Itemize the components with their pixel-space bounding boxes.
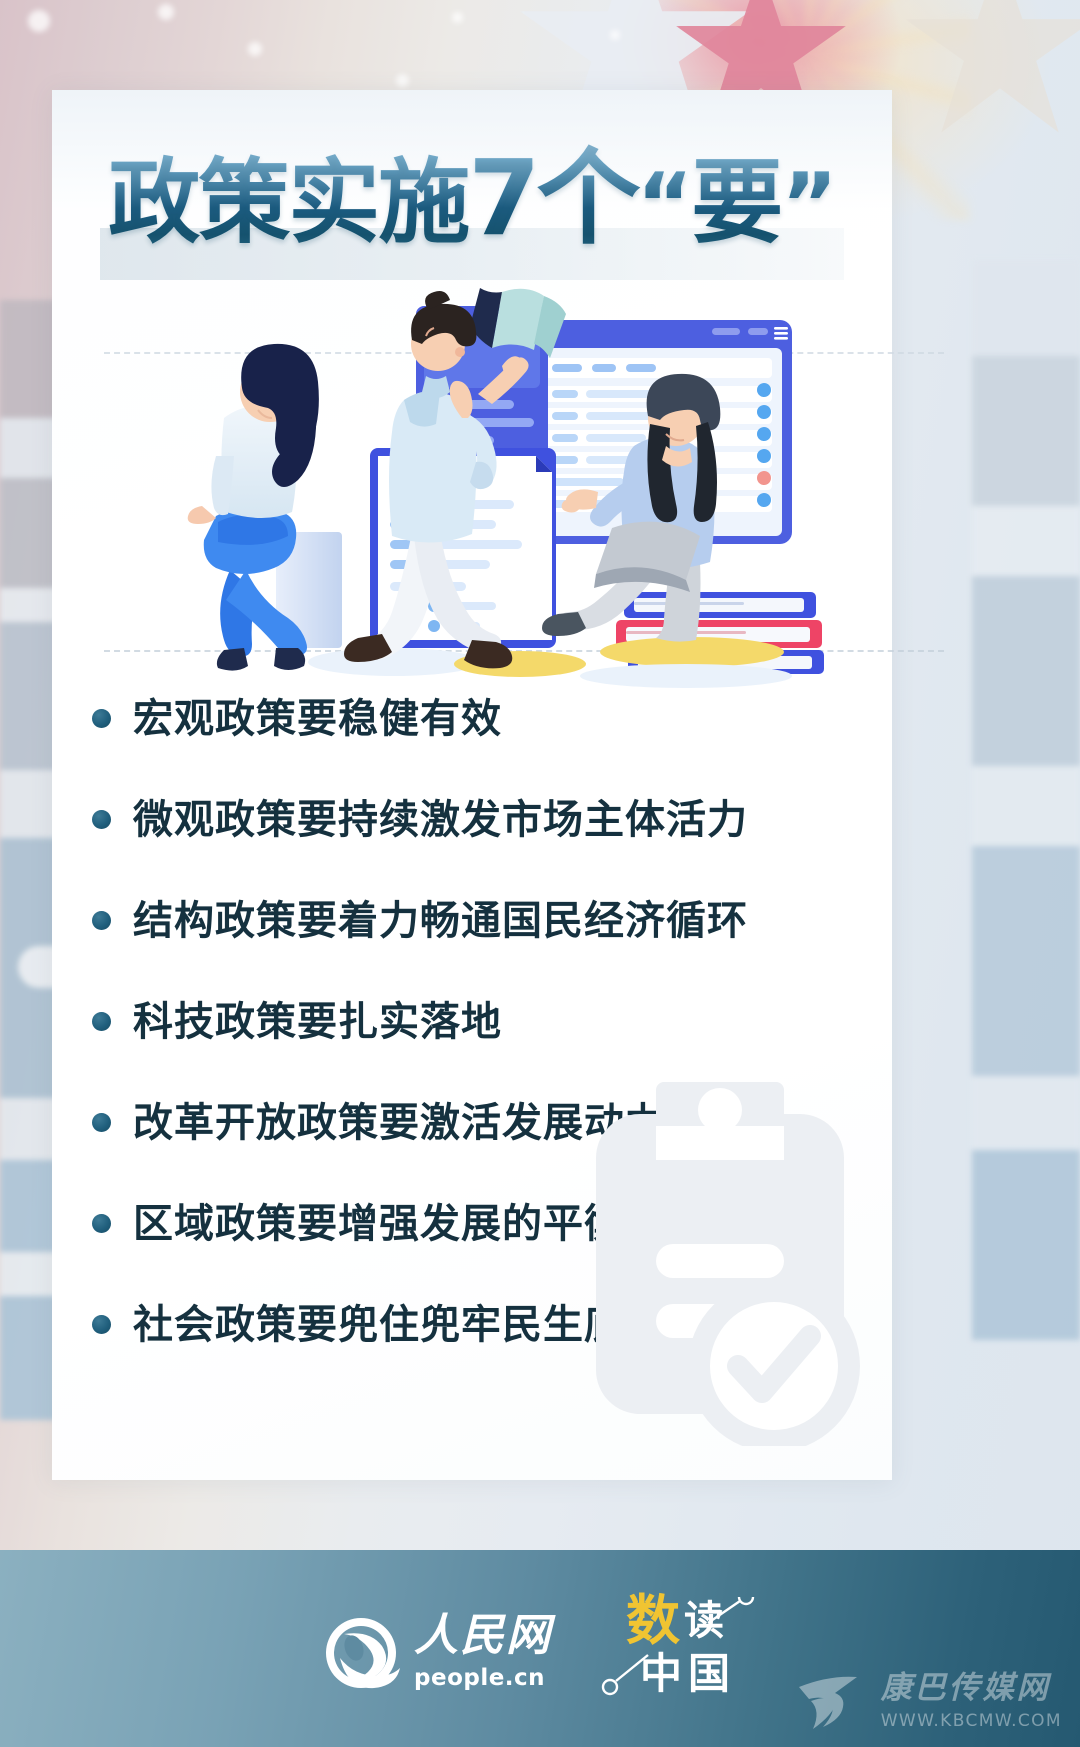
title-quote-close: ” bbox=[781, 155, 836, 255]
list-item[interactable]: 区域政策要增强发展的平衡性协调性 bbox=[92, 1173, 862, 1274]
people-cn-logo[interactable]: 人民网 people.cn bbox=[322, 1614, 552, 1692]
list-item[interactable]: 微观政策要持续激发市场主体活力 bbox=[92, 769, 862, 870]
list-item-label: 改革开放政策要激活发展动力 bbox=[133, 1100, 666, 1146]
bullet-dot-icon bbox=[92, 1113, 111, 1132]
list-item-label: 结构政策要着力畅通国民经济循环 bbox=[133, 898, 748, 944]
list-item[interactable]: 社会政策要兜住兜牢民生底线 bbox=[92, 1274, 862, 1375]
background-bokeh-dot bbox=[396, 74, 409, 87]
list-item[interactable]: 结构政策要着力畅通国民经济循环 bbox=[92, 870, 862, 971]
footer-logo-group: 人民网 people.cn 数 读 中国 bbox=[322, 1597, 758, 1709]
background-bokeh-dot bbox=[28, 10, 50, 32]
title-keyword: 要 bbox=[691, 149, 781, 256]
footer-bar: 人民网 people.cn 数 读 中国 bbox=[0, 1550, 1080, 1747]
list-item[interactable]: 宏观政策要稳健有效 bbox=[92, 668, 862, 769]
list-item-label: 微观政策要持续激发市场主体活力 bbox=[133, 797, 748, 843]
background-bokeh-dot bbox=[158, 4, 174, 20]
shudu-char-2: 读 bbox=[684, 1601, 724, 1641]
kbcmw-label-cn: 康巴传媒网 bbox=[881, 1673, 1051, 1704]
background-bokeh-dot bbox=[248, 42, 262, 56]
bullet-dot-icon bbox=[92, 911, 111, 930]
background-bokeh-dot bbox=[452, 12, 463, 23]
people-cn-label-en: people.cn bbox=[414, 1665, 545, 1691]
site-watermark: 康巴传媒网 WWW.KBCMW.COM bbox=[795, 1671, 1062, 1733]
people-cn-label-cn: 人民网 bbox=[414, 1614, 552, 1658]
bullet-dot-icon bbox=[92, 1012, 111, 1031]
list-item[interactable]: 改革开放政策要激活发展动力 bbox=[92, 1072, 862, 1173]
kbcmw-wordmark: 康巴传媒网 WWW.KBCMW.COM bbox=[881, 1673, 1062, 1731]
bullet-dot-icon bbox=[92, 810, 111, 829]
people-cn-wordmark: 人民网 people.cn bbox=[414, 1614, 552, 1691]
kbcmw-mark-icon bbox=[795, 1671, 871, 1733]
list-item-label: 科技政策要扎实落地 bbox=[133, 999, 502, 1045]
shudu-char-3: 中国 bbox=[640, 1653, 736, 1695]
list-item-label: 社会政策要兜住兜牢民生底线 bbox=[133, 1302, 666, 1348]
list-item-label: 宏观政策要稳健有效 bbox=[133, 696, 502, 742]
page-title: 政策实施7个“要” bbox=[100, 132, 844, 292]
title-lead: 政策实施 bbox=[108, 149, 468, 256]
bullet-dot-icon bbox=[92, 1315, 111, 1334]
kbcmw-label-url: WWW.KBCMW.COM bbox=[881, 1711, 1062, 1731]
people-cn-globe-icon bbox=[322, 1614, 400, 1692]
shudu-char-1: 数 bbox=[626, 1593, 680, 1647]
content-card: 政策实施7个“要” bbox=[52, 90, 892, 1480]
poster-root: 政策实施7个“要” bbox=[0, 0, 1080, 1747]
list-item[interactable]: 科技政策要扎实落地 bbox=[92, 971, 862, 1072]
policy-list: 宏观政策要稳健有效 微观政策要持续激发市场主体活力 结构政策要着力畅通国民经济循… bbox=[92, 668, 862, 1375]
illustration-svg bbox=[172, 270, 892, 690]
hero-illustration bbox=[172, 270, 892, 690]
background-edge-bands-right-decor bbox=[960, 260, 1080, 1440]
title-unit: 个 bbox=[537, 137, 637, 259]
title-quote-open: “ bbox=[637, 155, 692, 255]
background-bokeh-dot bbox=[610, 30, 620, 40]
bullet-dot-icon bbox=[92, 1214, 111, 1233]
title-text: 政策实施7个“要” bbox=[100, 132, 844, 271]
shudu-zhongguo-logo[interactable]: 数 读 中国 bbox=[588, 1597, 758, 1709]
list-item-label: 区域政策要增强发展的平衡性协调性 bbox=[133, 1201, 789, 1247]
title-number: 7 bbox=[468, 137, 536, 259]
bullet-dot-icon bbox=[92, 709, 111, 728]
